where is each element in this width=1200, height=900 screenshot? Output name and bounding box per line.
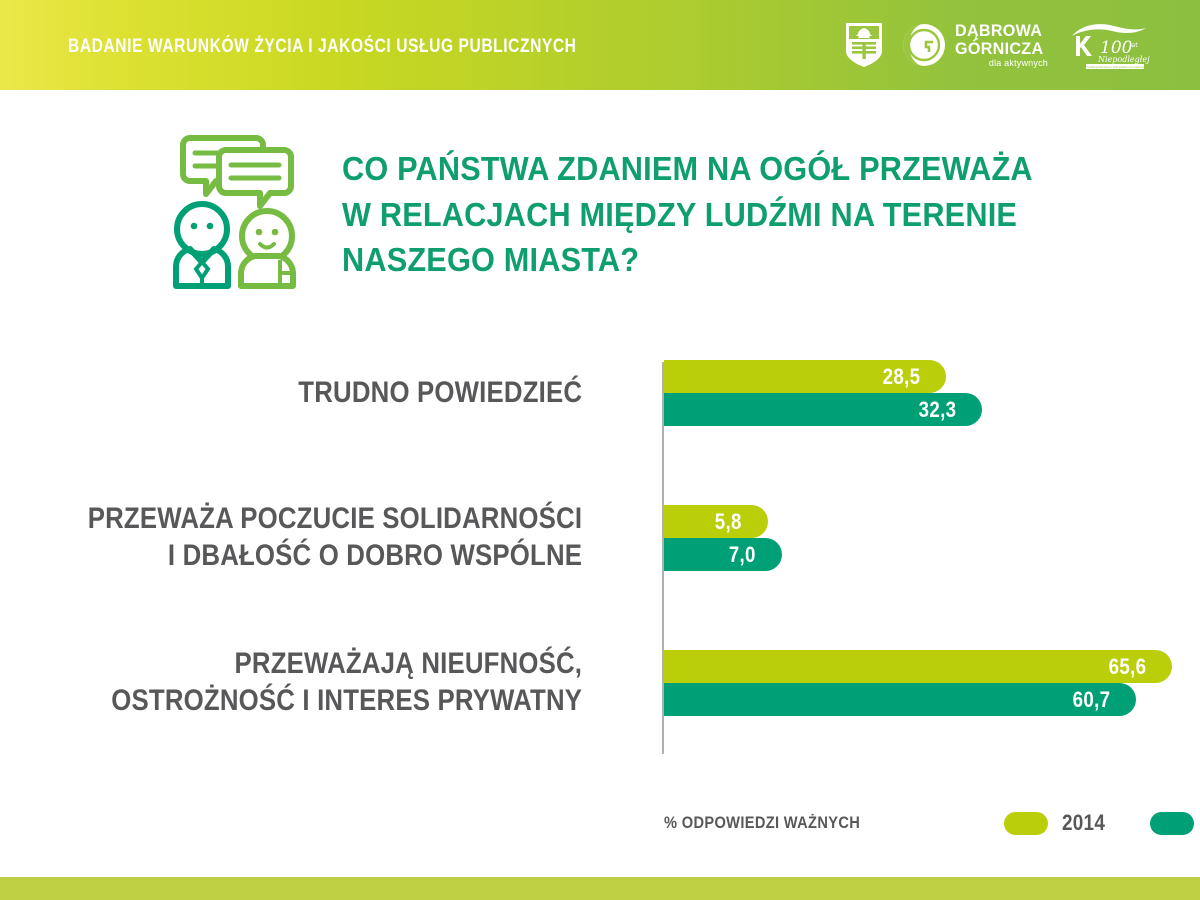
chart-group-bars: 5,8 7,0 [664,503,1184,573]
legend-caption: % ODPOWIEDZI WAŻNYCH [664,813,860,833]
bar-value-2018: 7,0 [729,542,756,568]
page-header: BADANIE WARUNKÓW ŻYCIA I JAKOŚCI USŁUG P… [0,0,1200,90]
dabrowa-gornicza-logo: DĄBROWA GÓRNICZA dla aktywnych [902,22,1048,68]
chart-group-bars: 65,6 60,7 [664,648,1184,718]
bar-value-2014: 28,5 [882,364,920,390]
table-row[interactable]: 7,0 [664,538,782,571]
dg-logo-line2: GÓRNICZA [955,40,1043,57]
chart-group-bars: 28,5 32,3 [664,358,1184,428]
svg-text:Niepodległej: Niepodległej [1097,55,1150,64]
table-row[interactable]: 65,6 [664,650,1172,683]
category-line: PRZEWAŻAJĄ NIEUFNOŚĆ, [87,646,582,683]
bar-value-2018: 32,3 [918,397,956,423]
legend-swatch-icon-2014 [1004,812,1048,835]
table-row[interactable]: 32,3 [664,393,982,426]
category-line: PRZEWAŻA POCZUCIE SOLIDARNOŚCI [87,501,582,538]
question-line-1: CO PAŃSTWA ZDANIEM NA OGÓŁ PRZEWAŻA [342,146,1033,192]
legend-items: 2014 2018 [1004,810,1200,836]
bar-value-2018: 60,7 [1072,687,1110,713]
legend-swatch-icon-2018 [1150,812,1194,835]
coat-of-arms-icon [844,21,884,69]
chart-legend: % ODPOWIEDZI WAŻNYCH 2014 2018 [664,806,1184,840]
bar-value-2014: 5,8 [715,509,742,535]
dg-logo-tagline: dla aktywnych [955,59,1048,68]
chart-group-nieufnosc: PRZEWAŻAJĄ NIEUFNOŚĆ, OSTROŻNOŚĆ I INTER… [0,648,1200,718]
table-row[interactable]: 60,7 [664,683,1136,716]
chart-group-solidarnosc: PRZEWAŻA POCZUCIE SOLIDARNOŚCI I DBAŁOŚĆ… [0,503,1200,573]
legend-item-2018[interactable]: 2018 [1150,810,1200,836]
category-line: I DBAŁOŚĆ O DOBRO WSPÓLNE [87,538,582,575]
page-title: CO PAŃSTWA ZDANIEM NA OGÓŁ PRZEWAŻA W RE… [342,146,1033,283]
question-line-2: W RELACJACH MIĘDZY LUDŹMI NA TERENIE [342,192,1033,238]
legend-item-2014[interactable]: 2014 [1004,810,1112,836]
bar-value-2014: 65,6 [1108,654,1146,680]
table-row[interactable]: 28,5 [664,360,946,393]
chart-category-label: PRZEWAŻA POCZUCIE SOLIDARNOŚCI I DBAŁOŚĆ… [87,501,620,574]
category-line: TRUDNO POWIEDZIEĆ [87,375,582,412]
two-people-talking-icon [160,126,320,294]
dg-logo-line1: DĄBROWA [955,22,1043,39]
anniversary-100-lat-niepodleglej-logo: 100 lat Niepodległej Fundacja Rozwoju Ko… [1066,20,1152,70]
dg-monogram-icon [902,23,946,67]
question-block: CO PAŃSTWA ZDANIEM NA OGÓŁ PRZEWAŻA W RE… [0,126,1200,294]
page-footer-bar [0,877,1200,900]
bar-chart: TRUDNO POWIEDZIEĆ 28,5 32,3 PRZEWAŻA POC… [0,340,1200,770]
page-header-title: BADANIE WARUNKÓW ŻYCIA I JAKOŚCI USŁUG P… [68,36,577,58]
category-line: OSTROŻNOŚĆ I INTERES PRYWATNY [87,683,582,720]
legend-label-2014: 2014 [1062,810,1105,836]
chart-group-trudno-powiedziec: TRUDNO POWIEDZIEĆ 28,5 32,3 [0,358,1200,428]
table-row[interactable]: 5,8 [664,505,768,538]
chart-category-label: PRZEWAŻAJĄ NIEUFNOŚĆ, OSTROŻNOŚĆ I INTER… [87,646,620,719]
chart-category-label: TRUDNO POWIEDZIEĆ [87,375,620,412]
svg-text:Fundacja Rozwoju Kompetencji L: Fundacja Rozwoju Kompetencji Lokalnej [1085,65,1145,69]
header-logo-group: DĄBROWA GÓRNICZA dla aktywnych 100 lat N… [844,17,1152,73]
svg-text:lat: lat [1130,42,1138,49]
question-line-3: NASZEGO MIASTA? [342,237,1033,283]
